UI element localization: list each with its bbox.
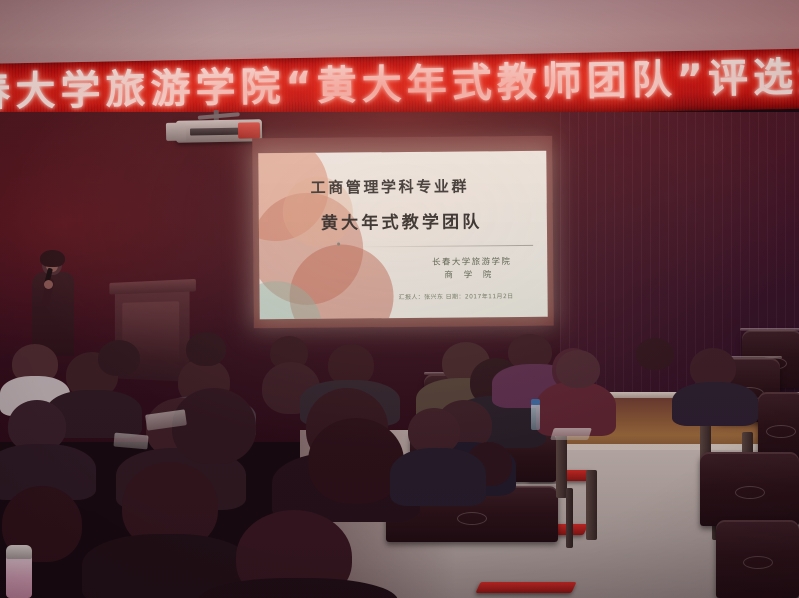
seat-back — [700, 452, 799, 526]
seat-cushion — [475, 582, 576, 593]
audience-shoulders — [390, 448, 486, 506]
seat-leg — [566, 488, 573, 548]
notebook-icon — [550, 428, 592, 440]
seat-back — [716, 520, 799, 598]
thermos-cap — [6, 545, 32, 559]
presenter-hand — [44, 280, 53, 289]
projection-screen-frame: 工商管理学科专业群 黄大年式教学团队 长春大学旅游学院 商 学 院 汇报人：张兴… — [252, 136, 554, 329]
water-bottle-icon — [531, 404, 540, 430]
paper-sheet — [113, 433, 148, 450]
slide-divider — [355, 245, 533, 248]
auditorium-photo: 春大学旅游学院“黄大年式教师团队”评选活动 工商管理学科专业群 黄大年式教学团队… — [0, 0, 799, 598]
slide-organization-line-1: 长春大学旅游学院 — [432, 255, 511, 268]
projector-lens — [238, 122, 260, 138]
audience-head — [636, 338, 674, 370]
seat-rail — [740, 328, 799, 331]
water-bottle-cap — [531, 399, 540, 405]
audience-head — [556, 350, 600, 388]
projector-icon — [176, 111, 263, 146]
slide-title-line-1: 工商管理学科专业群 — [311, 175, 470, 197]
slide-title-line-2: 黄大年式教学团队 — [321, 207, 483, 233]
projection-screen: 工商管理学科专业群 黄大年式教学团队 长春大学旅游学院 商 学 院 汇报人：张兴… — [258, 151, 547, 320]
audience-head — [186, 332, 226, 366]
presenter-hair — [40, 250, 65, 267]
seat-post — [586, 470, 597, 540]
audience-shoulders — [672, 382, 758, 426]
audience-head — [172, 388, 256, 464]
slide-organization-line-2: 商 学 院 — [444, 268, 495, 280]
audience-head — [98, 340, 140, 376]
projector-side-box — [166, 123, 186, 141]
slide-presenter-date: 汇报人：张兴东 日期：2017年11月2日 — [398, 291, 513, 301]
slide-bullet-dot — [337, 243, 340, 246]
